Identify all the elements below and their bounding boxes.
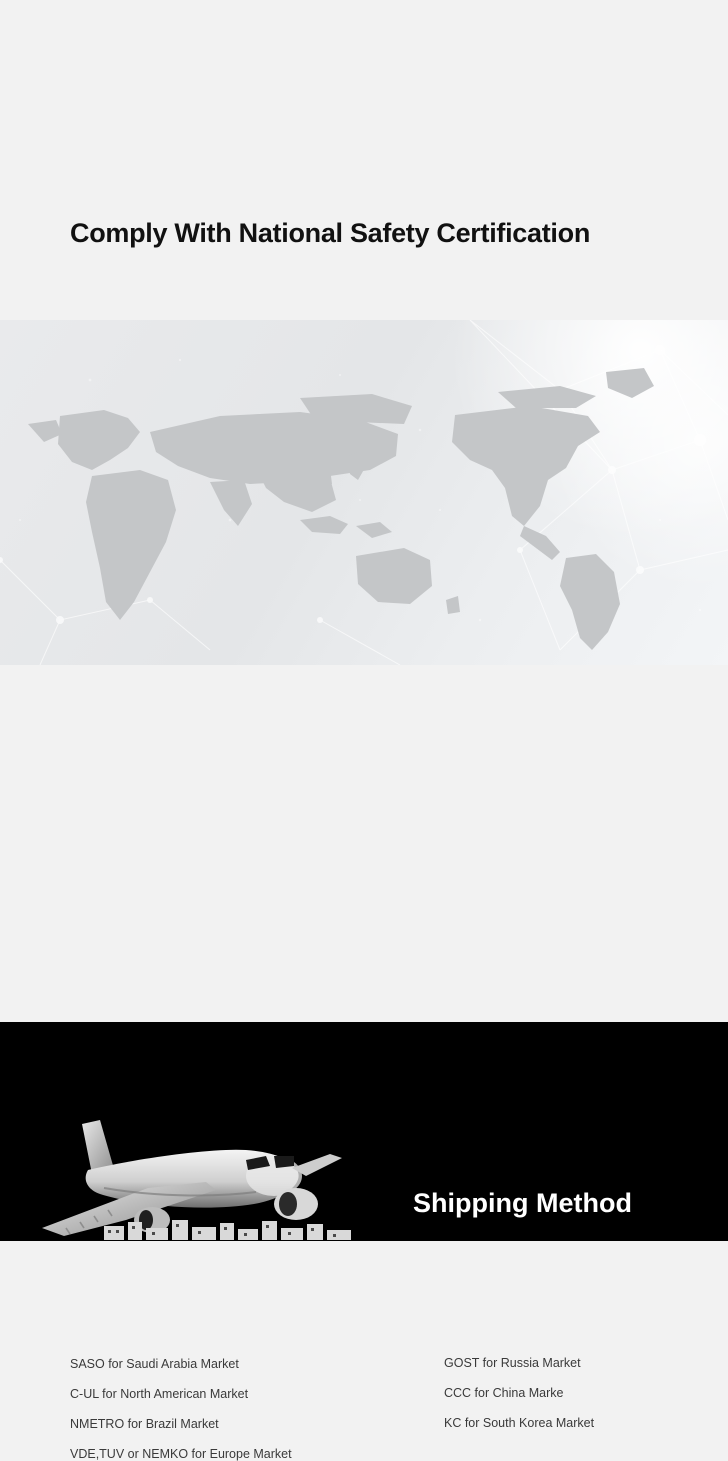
product-detail-page: Comply With National Safety Certificatio…: [0, 0, 728, 1241]
license-item-left-1: C-UL for North American Market: [70, 1387, 248, 1401]
license-item-right-1: CCC for China Marke: [444, 1386, 563, 1400]
license-item-left-3: VDE,TUV or NEMKO for Europe Market: [70, 1447, 292, 1461]
world-landmass-graphic: [0, 320, 728, 665]
page-title: Comply With National Safety Certificatio…: [70, 218, 590, 249]
license-list-section: SASO for Saudi Arabia Market C-UL for No…: [0, 665, 728, 1022]
world-map-section: APPROVED LICENSES VDE, TUV or NEMKO for …: [0, 320, 728, 665]
cargo-containers-image: [100, 1218, 360, 1241]
license-item-right-0: GOST for Russia Market: [444, 1356, 581, 1370]
license-item-left-0: SASO for Saudi Arabia Market: [70, 1357, 239, 1371]
license-item-right-2: KC for South Korea Market: [444, 1416, 594, 1430]
license-item-left-2: NMETRO for Brazil Market: [70, 1417, 219, 1431]
heading-band: Comply With National Safety Certificatio…: [0, 0, 728, 320]
shipping-title: Shipping Method: [413, 1188, 632, 1219]
